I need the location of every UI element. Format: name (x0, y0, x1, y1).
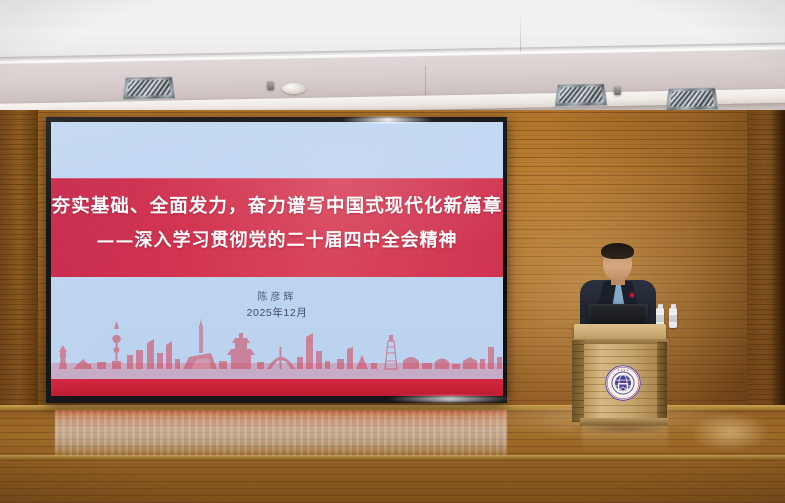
institution-emblem-icon: ★ ★ ★ ★ · · · · · · · · · · · · · · (604, 364, 642, 402)
laptop-screen (591, 306, 645, 324)
air-vent-icon (554, 83, 607, 107)
air-vent-icon (665, 87, 718, 111)
presenter-hair (601, 243, 634, 259)
lapel-pin-icon (630, 293, 634, 297)
wall-corner-left (0, 110, 38, 410)
screen-top-glare (340, 117, 435, 123)
ceiling (0, 0, 785, 118)
city-skyline-graphic (51, 317, 503, 379)
air-vent-icon (122, 76, 175, 100)
presentation-slide: 夯实基础、全面发力，奋力谱写中国式现代化新篇章 ——深入学习贯彻党的二十届四中全… (51, 122, 503, 396)
water-bottle[interactable] (669, 308, 677, 328)
wall-shadow-edge (771, 110, 785, 410)
slide-author: 陈彦辉 (51, 288, 503, 303)
projection-screen[interactable]: 夯实基础、全面发力，奋力谱写中国式现代化新篇章 ——深入学习贯彻党的二十届四中全… (46, 117, 507, 403)
sprinkler-head-icon (267, 81, 274, 90)
screen-bottom-glare (385, 396, 515, 402)
slide-title-line1: 夯实基础、全面发力，奋力谱写中国式现代化新篇章 (51, 192, 503, 218)
photo-scene: 夯实基础、全面发力，奋力谱写中国式现代化新篇章 ——深入学习贯彻党的二十届四中全… (0, 0, 785, 503)
lectern-right-side (657, 342, 667, 420)
slide-title-line2: ——深入学习贯彻党的二十届四中全会精神 (51, 226, 503, 252)
svg-text:· · · · · · · ·: · · · · · · · · (618, 396, 629, 399)
ceiling-dome-light-icon (282, 83, 306, 94)
stage-front-trim (0, 455, 785, 459)
svg-text:· · · · · ·: · · · · · · (619, 373, 626, 375)
slide-footer-bar (51, 379, 503, 396)
lectern-area: ★ ★ ★ ★ · · · · · · · · · · · · · · (560, 240, 740, 440)
sprinkler-head-icon (614, 86, 621, 95)
lectern-floor-reflection (582, 426, 668, 452)
